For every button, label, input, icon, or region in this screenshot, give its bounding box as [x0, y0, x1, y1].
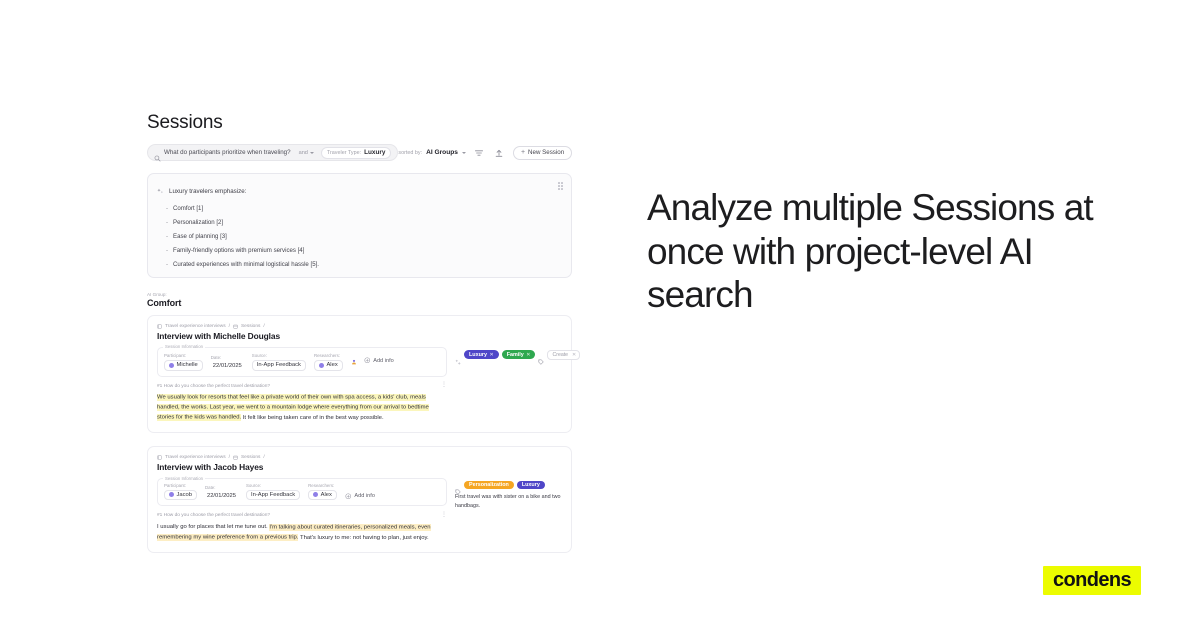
add-info-label: Add info [373, 358, 394, 364]
session-card-side: Personalization Luxury First travel was … [455, 455, 562, 543]
session-information-row: Participant: Jacob Date: 22/01/2025 Sour… [164, 483, 440, 500]
folder-icon [233, 324, 238, 329]
session-card-main: Travel experience interviews / Sessions … [157, 455, 447, 543]
app-window: Sessions What do participants prioritize… [147, 112, 572, 566]
session-title[interactable]: Interview with Michelle Douglas [157, 331, 447, 341]
transcript-text: I usually go for places that let me tune… [157, 522, 447, 542]
create-label: Create [552, 352, 568, 358]
breadcrumb-separator: / [229, 324, 230, 329]
tag-label: Luxury [522, 482, 540, 488]
session-card[interactable]: Travel experience interviews / Sessions … [147, 446, 572, 553]
session-information-box: Session Information Participant: Jacob D… [157, 478, 447, 506]
field-participant: Participant: Michelle [164, 353, 203, 370]
search-query-text: What do participants prioritize when tra… [164, 149, 291, 156]
search-input[interactable]: What do participants prioritize when tra… [147, 144, 398, 161]
breadcrumb[interactable]: Travel experience interviews / Sessions … [157, 455, 447, 460]
page-title: Sessions [147, 112, 572, 134]
tag-row: Personalization Luxury [455, 481, 562, 489]
tag-icon [538, 352, 544, 358]
tag-label: Family [507, 352, 524, 358]
researcher-pill[interactable]: Alex [314, 360, 343, 371]
filter-chip-traveler-type[interactable]: Traveler Type: Luxury [321, 147, 391, 159]
session-information-actions: Add info [345, 493, 375, 501]
field-participant: Participant: Jacob [164, 483, 197, 500]
filter-key-label: Traveler Type: [327, 150, 361, 156]
question-text: #1 How do you choose the perfect travel … [157, 513, 270, 518]
tag-icon [455, 482, 461, 488]
sort-by-label: sorted by: [398, 150, 422, 156]
ai-group-heading: AI Group: Comfort [147, 292, 572, 308]
folder-icon [233, 455, 238, 460]
new-session-label: New Session [528, 149, 564, 156]
ai-summary-list: Comfort [1] Personalization [2] Ease of … [173, 206, 561, 268]
transcript-plain: That's luxury to me: not having to plan,… [298, 535, 428, 541]
ai-group-name: Comfort [147, 298, 572, 308]
list-item: Curated experiences with minimal logisti… [173, 262, 561, 268]
participant-badge-icon[interactable] [351, 352, 357, 370]
session-information-box: Session Information Participant: Michell… [157, 347, 447, 377]
source-pill[interactable]: In-App Feedback [252, 360, 306, 371]
close-icon[interactable]: ✕ [572, 352, 576, 358]
field-value: Michelle [177, 362, 198, 368]
field-value: In-App Feedback [251, 492, 295, 498]
close-icon[interactable]: ✕ [489, 352, 493, 358]
avatar [319, 363, 324, 368]
field-value: In-App Feedback [257, 362, 301, 368]
field-label: Participant: [164, 483, 197, 488]
tag-label: Personalization [469, 482, 509, 488]
condens-logo: condens [1043, 566, 1141, 595]
new-session-button[interactable]: + New Session [513, 146, 572, 160]
list-item: Family-friendly options with premium ser… [173, 248, 561, 254]
field-date: Date: 22/01/2025 [205, 485, 238, 500]
transcript-plain: I usually go for places that let me tune… [157, 524, 269, 530]
session-information-actions: Add info [351, 352, 394, 371]
plus-circle-icon [345, 493, 352, 500]
field-label: Source: [252, 353, 306, 358]
session-information-legend: Session Information [163, 344, 205, 349]
chevron-down-icon [462, 152, 466, 154]
operator-label: and [299, 150, 308, 156]
ai-summary-card: Luxury travelers emphasize: Comfort [1] … [147, 173, 572, 278]
avatar [169, 363, 174, 368]
field-researchers: Researchers: Alex [308, 483, 337, 500]
question-row: #1 How do you choose the perfect travel … [157, 513, 447, 518]
list-item: Ease of planning [3] [173, 234, 561, 240]
add-info-button[interactable]: Add info [364, 357, 394, 364]
add-tag-icon[interactable] [455, 352, 461, 358]
toolbar: What do participants prioritize when tra… [147, 144, 572, 161]
session-note[interactable]: First travel was with sister on a bike a… [455, 493, 562, 510]
question-text: #1 How do you choose the perfect travel … [157, 384, 270, 389]
breadcrumb-folder[interactable]: Sessions [241, 455, 260, 460]
search-icon [154, 149, 161, 156]
participant-pill[interactable]: Jacob [164, 490, 197, 501]
source-pill[interactable]: In-App Feedback [246, 490, 300, 501]
promo-screenshot: Sessions What do participants prioritize… [0, 0, 1200, 630]
drag-handle-icon[interactable] [558, 182, 563, 190]
field-source: Source: In-App Feedback [252, 353, 306, 370]
tag-chip[interactable]: Luxury [517, 481, 545, 489]
tag-chip[interactable]: Luxury ✕ [464, 350, 499, 358]
field-value[interactable]: 22/01/2025 [205, 492, 238, 501]
upload-icon[interactable] [493, 146, 506, 159]
session-card-side: Luxury ✕ Family ✕ Create ✕ [455, 324, 580, 423]
question-row: #1 How do you choose the perfect travel … [157, 384, 447, 389]
field-label: Researchers: [308, 483, 337, 488]
field-date: Date: 22/01/2025 [211, 355, 244, 370]
field-source: Source: In-App Feedback [246, 483, 300, 500]
filter-value-label: Luxury [364, 149, 385, 156]
project-icon [157, 324, 162, 329]
breadcrumb-separator: / [263, 324, 264, 329]
plus-circle-icon [364, 357, 371, 364]
session-information-legend: Session Information [163, 476, 205, 481]
close-icon[interactable]: ✕ [526, 352, 530, 358]
ai-summary-heading: Luxury travelers emphasize: [169, 188, 246, 195]
session-card[interactable]: Travel experience interviews / Sessions … [147, 315, 572, 433]
operator-dropdown[interactable]: and [299, 150, 314, 156]
field-label: Researchers: [314, 353, 343, 358]
field-value: Alex [326, 362, 337, 368]
sort-dropdown[interactable]: sorted by: AI Groups [398, 149, 466, 156]
field-value: Jacob [177, 492, 192, 498]
session-information-row: Participant: Michelle Date: 22/01/2025 S… [164, 352, 440, 371]
add-info-label: Add info [354, 493, 375, 499]
field-label: Source: [246, 483, 300, 488]
field-value[interactable]: 22/01/2025 [211, 362, 244, 371]
transcript-plain: It felt like being taken care of in the … [241, 415, 383, 421]
logo-text: condens [1053, 570, 1131, 590]
create-tag-button[interactable]: Create ✕ [547, 350, 580, 360]
ai-sparkle-icon [157, 182, 164, 200]
session-card-main: Travel experience interviews / Sessions … [157, 324, 447, 423]
list-item: Personalization [2] [173, 220, 561, 226]
plus-icon: + [521, 149, 525, 156]
transcript-text: We usually look for resorts that feel li… [157, 393, 447, 423]
breadcrumb-separator: / [229, 455, 230, 460]
tag-chip[interactable]: Personalization [464, 481, 514, 489]
field-value: Alex [321, 492, 332, 498]
add-info-button[interactable]: Add info [345, 493, 375, 500]
ai-summary-header: Luxury travelers emphasize: [157, 182, 561, 200]
researcher-pill[interactable]: Alex [308, 490, 337, 501]
breadcrumb-project[interactable]: Travel experience interviews [165, 324, 226, 329]
field-researchers: Researchers: Alex [314, 353, 343, 370]
participant-pill[interactable]: Michelle [164, 360, 203, 371]
field-label: Date: [205, 485, 238, 490]
toolbar-actions: sorted by: AI Groups [398, 146, 572, 160]
project-icon [157, 455, 162, 460]
breadcrumb[interactable]: Travel experience interviews / Sessions … [157, 324, 447, 329]
more-options-icon[interactable]: ⋮ [441, 384, 447, 388]
avatar [169, 492, 174, 497]
field-label: Date: [211, 355, 244, 360]
chevron-down-icon [310, 152, 314, 154]
sort-by-value: AI Groups [426, 149, 458, 156]
breadcrumb-project[interactable]: Travel experience interviews [165, 455, 226, 460]
more-options-icon[interactable]: ⋮ [441, 514, 447, 518]
session-title[interactable]: Interview with Jacob Hayes [157, 462, 447, 472]
list-item: Comfort [1] [173, 206, 561, 212]
tag-chip[interactable]: Family ✕ [502, 350, 536, 358]
breadcrumb-separator: / [263, 455, 264, 460]
tag-row: Luxury ✕ Family ✕ Create ✕ [455, 350, 580, 360]
field-label: Participant: [164, 353, 203, 358]
promo-headline: Analyze multiple Sessions at once with p… [647, 186, 1117, 317]
tag-label: Luxury [469, 352, 487, 358]
filter-icon[interactable] [473, 146, 486, 159]
avatar [313, 492, 318, 497]
breadcrumb-folder[interactable]: Sessions [241, 324, 260, 329]
